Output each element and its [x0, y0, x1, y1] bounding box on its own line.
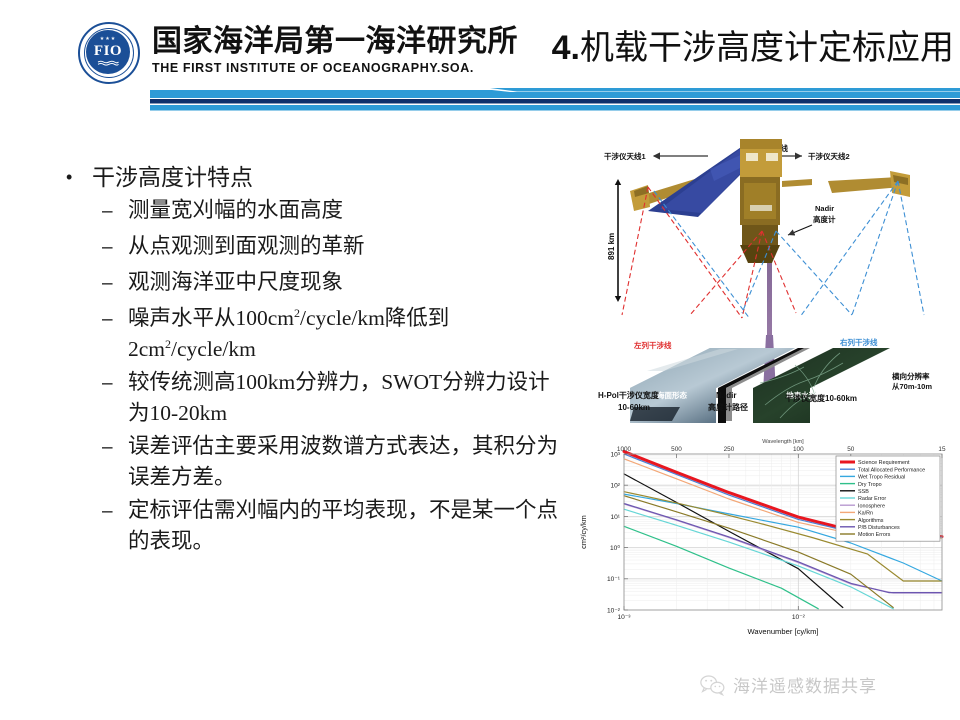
bullet-level1: • 干涉高度计特点	[60, 162, 565, 193]
dash-icon: –	[102, 267, 128, 301]
label-left-rays: 左列干涉线	[633, 340, 672, 350]
org-name-en: THE FIRST INSTITUTE OF OCEANOGRAPHY.SOA.	[152, 61, 518, 75]
list-item-text: 定标评估需刈幅内的平均表现，不是某一个点的表现。	[128, 495, 558, 557]
bullet-dot-icon: •	[60, 162, 92, 192]
chart-legend-item: SSB	[858, 489, 869, 495]
label-antenna-left: 干涉仪天线1	[604, 151, 646, 161]
chart-x-tick: 10⁻³	[617, 614, 631, 621]
chart-top-tick: 15	[938, 446, 946, 453]
list-item: – 测量宽刈幅的水面高度	[60, 195, 565, 229]
wechat-icon	[700, 674, 726, 696]
dash-icon: –	[102, 195, 128, 229]
swot-error-budget-chart: 10005002501005015Wavelength [km]10⁻³10⁻²…	[572, 432, 960, 647]
dash-icon: –	[102, 431, 128, 465]
chart-y-tick: 10²	[610, 483, 620, 490]
chart-legend-item: Dry Tropo	[858, 482, 882, 488]
dash-icon: –	[102, 231, 128, 265]
title-number: 4.	[552, 29, 580, 67]
chart-legend-item: Radar Error	[858, 496, 886, 502]
bullet-content: • 干涉高度计特点 – 测量宽刈幅的水面高度 – 从点观测到面观测的革新 – 观…	[60, 162, 565, 559]
chart-y-tick: 10⁻¹	[607, 576, 621, 583]
chart-y-tick: 10⁰	[610, 544, 620, 552]
chart-top-tick: 500	[671, 446, 682, 453]
page-title: 4.机载干涉高度计定标应用	[552, 20, 954, 69]
label-altitude: 891 km	[607, 233, 616, 260]
caption-left-1: H-Pol干涉仪宽度	[598, 390, 660, 400]
list-item-text: 误差评估主要采用波数谱方式表达，其积分为误差方差。	[128, 431, 558, 493]
chart-legend-item: Total Allocated Performance	[858, 467, 925, 473]
list-item: – 较传统测高100km分辨力，SWOT分辨力设计为10-20km	[60, 367, 565, 429]
caption-right: 干涉仪宽度10-60km	[785, 393, 857, 403]
list-item-text-noise: 噪声水平从100cm2/cycle/km降低到2cm2/cycle/km	[128, 303, 558, 365]
label-right-rays: 右列干涉线	[839, 337, 878, 347]
chart-top-tick: 100	[793, 446, 804, 453]
caption-left-2: 10-60km	[618, 403, 650, 412]
chart-x-axis-label: Wavenumber [cy/km]	[747, 627, 818, 636]
chart-legend-item: Wet Tropo Residual	[858, 475, 905, 481]
chart-y-axis-label: cm²/cy/km	[579, 515, 588, 549]
label-cross-res-1: 横向分辨率	[892, 371, 930, 381]
chart-y-tick: 10³	[610, 451, 620, 458]
chart-top-axis-label: Wavelength [km]	[762, 439, 804, 445]
dash-icon: –	[102, 303, 128, 337]
list-item: – 观测海洋亚中尺度现象	[60, 267, 565, 301]
caption-mid-1: Nadir	[716, 391, 736, 400]
chart-legend-item: Algorithms	[858, 518, 884, 524]
slide: ★★★ FIO 国家海洋局第一海洋研究所 THE FIRST INSTITUTE…	[0, 0, 960, 720]
footer-text: 海洋遥感数据共享	[733, 672, 877, 697]
chart-y-tick: 10⁻²	[607, 607, 621, 614]
chart-legend-item: Motion Errors	[858, 532, 891, 538]
label-nadir-1: Nadir	[815, 204, 834, 213]
chart-top-tick: 250	[724, 446, 735, 453]
logo-wave-icon	[97, 60, 119, 67]
logo-stars-icon: ★★★	[100, 37, 116, 42]
fio-logo-inner: ★★★ FIO	[86, 30, 130, 74]
chart-legend-item: Ionosphere	[858, 503, 885, 509]
chart-legend-item: Science Requirement	[858, 460, 910, 466]
org-name-cn: 国家海洋局第一海洋研究所	[152, 26, 518, 58]
chart-x-tick: 10⁻²	[792, 614, 806, 621]
dash-icon: –	[102, 495, 128, 529]
title-text: 机载干涉高度计定标应用	[580, 30, 954, 67]
list-item-text: 观测海洋亚中尺度现象	[128, 267, 558, 298]
noise-text-a: 噪声水平从100cm	[128, 306, 294, 330]
diagram-captions: H-Pol干涉仪宽度 10-60km Nadir 高度计路径 干涉仪宽度10-6…	[590, 386, 960, 420]
bullet-level1-text: 干涉高度计特点	[92, 162, 253, 193]
list-item-text: 测量宽刈幅的水面高度	[128, 195, 558, 226]
label-antenna-right: 干涉仪天线2	[808, 151, 850, 161]
list-item: – 噪声水平从100cm2/cycle/km降低到2cm2/cycle/km	[60, 303, 565, 365]
fio-logo: ★★★ FIO	[78, 22, 142, 86]
footer-watermark: 海洋遥感数据共享	[700, 672, 877, 697]
noise-text-c: /cycle/km	[171, 337, 256, 361]
header-stripe-band	[0, 88, 960, 114]
list-item-text: 从点观测到面观测的革新	[128, 231, 558, 262]
list-item: – 误差评估主要采用波数谱方式表达，其积分为误差方差。	[60, 431, 565, 493]
chart-legend-item: Ka/Rn	[858, 511, 873, 517]
label-nadir-2: 高度计	[813, 214, 836, 224]
list-item: – 从点观测到面观测的革新	[60, 231, 565, 265]
swot-satellite-geometry-diagram: 干涉仪天线1 10m基线 干涉仪天线2 891 km	[590, 135, 955, 425]
organization-name: 国家海洋局第一海洋研究所 THE FIRST INSTITUTE OF OCEA…	[152, 26, 518, 75]
chart-y-tick: 10¹	[610, 514, 620, 521]
fio-logo-text: FIO	[94, 44, 122, 59]
dash-icon: –	[102, 367, 128, 401]
chart-top-tick: 50	[847, 446, 855, 453]
chart-legend-item: P/B Disturbances	[858, 525, 900, 531]
list-item: – 定标评估需刈幅内的平均表现，不是某一个点的表现。	[60, 495, 565, 557]
caption-mid-2: 高度计路径	[708, 402, 748, 412]
list-item-text: 较传统测高100km分辨力，SWOT分辨力设计为10-20km	[128, 367, 558, 429]
